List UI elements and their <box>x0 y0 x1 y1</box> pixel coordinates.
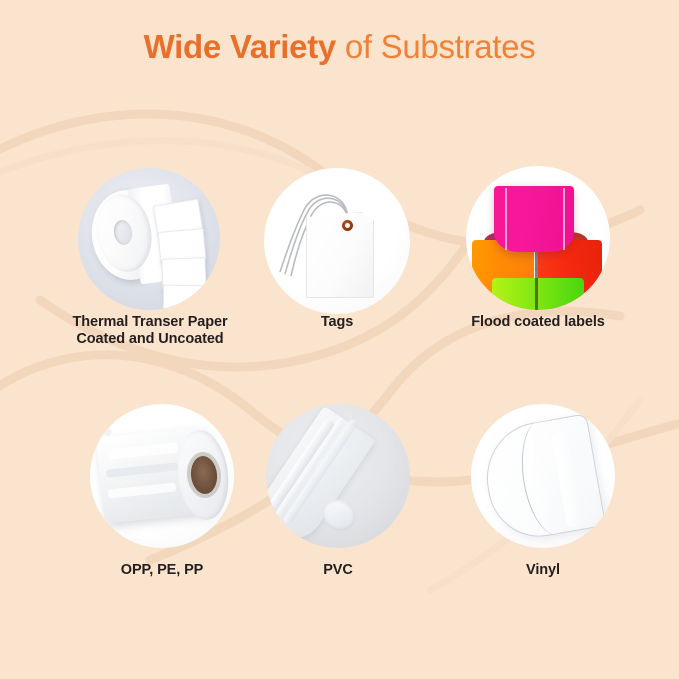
label-roll-photo <box>78 168 220 310</box>
caption-pvc: PVC <box>288 562 388 579</box>
caption-opp-pe-pp: OPP, PE, PP <box>72 562 252 579</box>
title-light-part: of Substrates <box>336 28 535 65</box>
page-title: Wide Variety of Substrates <box>0 26 679 68</box>
caption-flood-coated-labels: Flood coated labels <box>443 314 633 331</box>
caption-tags: Tags <box>277 314 397 331</box>
title-bold-part: Wide Variety <box>144 28 336 65</box>
pink-roll-seam <box>563 188 565 250</box>
item-vinyl[interactable] <box>471 404 615 548</box>
item-flood-coated-labels[interactable] <box>466 166 610 310</box>
clear-vinyl-sheet-photo <box>471 404 615 548</box>
item-pvc[interactable] <box>266 404 410 548</box>
clear-pvc-sheet-photo <box>266 404 410 548</box>
green-label-roll <box>492 278 584 310</box>
item-thermal-transfer-paper[interactable] <box>78 168 220 310</box>
pink-roll-seam <box>505 188 507 250</box>
label-web-segment <box>163 285 205 310</box>
shipping-tag-photo <box>264 168 410 314</box>
flood-coated-rolls-photo <box>466 166 610 310</box>
tag-eyelet-hole <box>345 223 350 228</box>
stretch-film-roll-photo <box>90 404 234 548</box>
caption-thermal-transfer-paper: Thermal Transer Paper Coated and Uncoate… <box>20 314 280 348</box>
item-opp-pe-pp[interactable] <box>90 404 234 548</box>
tag-body-shape <box>306 212 374 298</box>
infographic-canvas: Wide Variety of Substrates Thermal Trans… <box>0 0 679 679</box>
item-tags[interactable] <box>264 168 410 314</box>
caption-vinyl: Vinyl <box>493 562 593 579</box>
film-tail-strip <box>90 419 112 437</box>
